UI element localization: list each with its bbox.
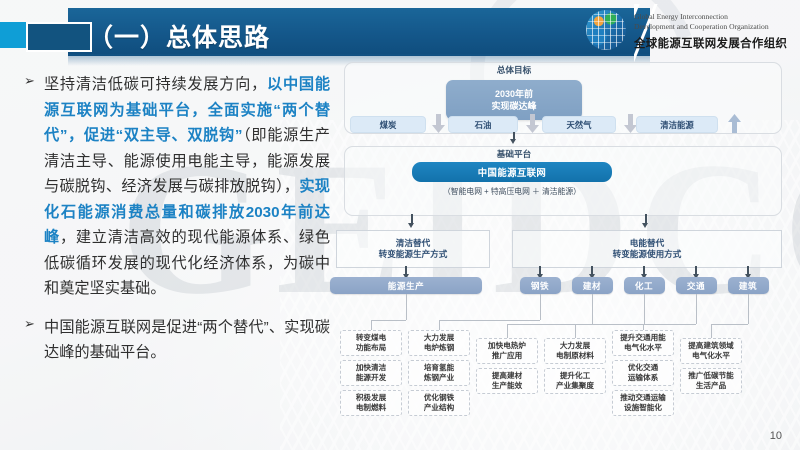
sector-elbow-3 xyxy=(575,324,644,325)
measure-box: 大力发展电制原材料 xyxy=(544,338,606,364)
body-text-column: ➢坚持清洁低碳可持续发展方向，以中国能源互联网为基础平台，全面实施“两个替代”，… xyxy=(24,72,330,379)
bullet-marker-icon: ➢ xyxy=(24,73,35,89)
measure-box: 优化交通运输体系 xyxy=(612,360,674,386)
sector-box-2: 钢铁 xyxy=(520,277,561,294)
sector-trunk-3 xyxy=(644,294,645,324)
text-bullet: ➢中国能源互联网是促进“两个替代”、实现碳达峰的基础平台。 xyxy=(24,315,330,366)
trend-down-arrow-icon xyxy=(526,114,539,133)
sector-elbow-4 xyxy=(643,324,696,325)
energy-source-box: 天然气 xyxy=(542,116,616,133)
globe-icon xyxy=(586,10,626,50)
sector-elbow-0 xyxy=(371,320,406,321)
trend-up-arrow-icon xyxy=(728,114,741,133)
sector-drop-2 xyxy=(507,324,508,338)
strategy-label: 电能替代转变能源使用方式 xyxy=(613,238,682,261)
measure-box: 转变煤电功能布局 xyxy=(340,330,402,356)
text-bullet: ➢坚持清洁低碳可持续发展方向，以中国能源互联网为基础平台，全面实施“两个替代”，… xyxy=(24,72,330,302)
measure-box: 加快清洁能源开发 xyxy=(340,360,402,386)
sector-box-4: 化工 xyxy=(624,277,665,294)
bullet-paragraph: 中国能源互联网是促进“两个替代”、实现碳达峰的基础平台。 xyxy=(44,315,330,366)
sector-trunk-1 xyxy=(540,294,541,320)
measure-box: 加快电热炉推广应用 xyxy=(476,338,538,364)
page-title: （一）总体思路 xyxy=(88,18,270,54)
arrowhead-goal-platform xyxy=(510,139,516,144)
strategy-clean-substitution: 清洁替代转变能源生产方式 xyxy=(336,230,490,268)
bullet-paragraph: 坚持清洁低碳可持续发展方向，以中国能源互联网为基础平台，全面实施“两个替代”，促… xyxy=(44,72,330,302)
strategy-diagram: 总体目标 2030年前实现碳达峰 煤炭石油天然气清洁能源 基础平台 中国能源互联… xyxy=(336,62,788,432)
sector-trunk-2 xyxy=(592,294,593,324)
sector-box-1: 能源生产 xyxy=(330,277,482,294)
sector-trunk-5 xyxy=(748,294,749,324)
measure-box: 提高建材生产能效 xyxy=(476,368,538,394)
trend-down-arrow-icon xyxy=(432,114,445,133)
measure-box: 推动交通运输设施智能化 xyxy=(612,390,674,416)
plain-phrase: 坚持清洁低碳可持续发展方向， xyxy=(44,76,267,93)
measure-box: 优化钢铁产业结构 xyxy=(408,390,470,416)
sector-drop-0 xyxy=(371,320,372,330)
arrowhead-strategy-left xyxy=(408,223,414,228)
sector-box-6: 建筑 xyxy=(728,277,769,294)
arrowhead-strategy-right xyxy=(642,223,648,228)
measure-box: 培育氢能炼钢产业 xyxy=(408,360,470,386)
goal-box: 2030年前实现碳达峰 xyxy=(446,80,582,120)
logo-english-name: Global Energy Interconnection Developmen… xyxy=(634,12,800,32)
sector-drop-5 xyxy=(711,324,712,338)
plain-phrase: ，建立清洁高效的现代能源体系、绿色低碳循环发展的现代化经济体系，为碳中和奠定坚实… xyxy=(44,229,330,297)
goal-box-label: 2030年前实现碳达峰 xyxy=(491,88,536,113)
energy-source-box: 石油 xyxy=(448,116,518,133)
sector-box-3: 建材 xyxy=(572,277,613,294)
logo-english-line-2: Development and Cooperation Organization xyxy=(634,22,800,32)
measure-box: 提升化工产业集聚度 xyxy=(544,368,606,394)
platform-formula: （智能电网 + 特高压电网 ＋ 清洁能源） xyxy=(392,186,632,197)
platform-caption: 基础平台 xyxy=(446,148,582,160)
sector-elbow-1 xyxy=(439,320,540,321)
measure-box: 积极发展电制燃料 xyxy=(340,390,402,416)
energy-source-box: 煤炭 xyxy=(350,116,426,133)
measure-box: 提升交通用能电气化水平 xyxy=(612,330,674,356)
energy-source-box: 清洁能源 xyxy=(636,116,718,133)
strategy-electricity-substitution: 电能替代转变能源使用方式 xyxy=(512,230,782,268)
page-number: 10 xyxy=(770,430,782,442)
measure-box: 提高建筑领域电气化水平 xyxy=(680,338,742,364)
sector-trunk-4 xyxy=(696,294,697,324)
platform-box: 中国能源互联网 xyxy=(412,162,612,182)
goal-caption: 总体目标 xyxy=(446,64,582,76)
header-accent-navy xyxy=(26,22,92,52)
sector-drop-3 xyxy=(575,324,576,338)
measure-box: 大力发展电炉炼钢 xyxy=(408,330,470,356)
logo-english-line-1: Global Energy Interconnection xyxy=(634,12,800,22)
sector-box-5: 交通 xyxy=(676,277,717,294)
slide-canvas: GEIDCO （一）总体思路 Global Energy Interconnec… xyxy=(0,0,800,450)
logo-chinese-name: 全球能源互联网发展合作组织 xyxy=(634,35,787,51)
plain-phrase: 中国能源互联网是促进“两个替代”、实现碳达峰的基础平台。 xyxy=(44,319,330,362)
bullet-marker-icon: ➢ xyxy=(24,316,35,332)
measure-box: 推广低碳节能生活产品 xyxy=(680,368,742,394)
sector-trunk-0 xyxy=(406,294,407,320)
organization-logo: Global Energy Interconnection Developmen… xyxy=(586,6,798,54)
sector-drop-1 xyxy=(439,320,440,330)
sector-elbow-5 xyxy=(711,324,748,325)
strategy-label: 清洁替代转变能源生产方式 xyxy=(379,238,448,261)
